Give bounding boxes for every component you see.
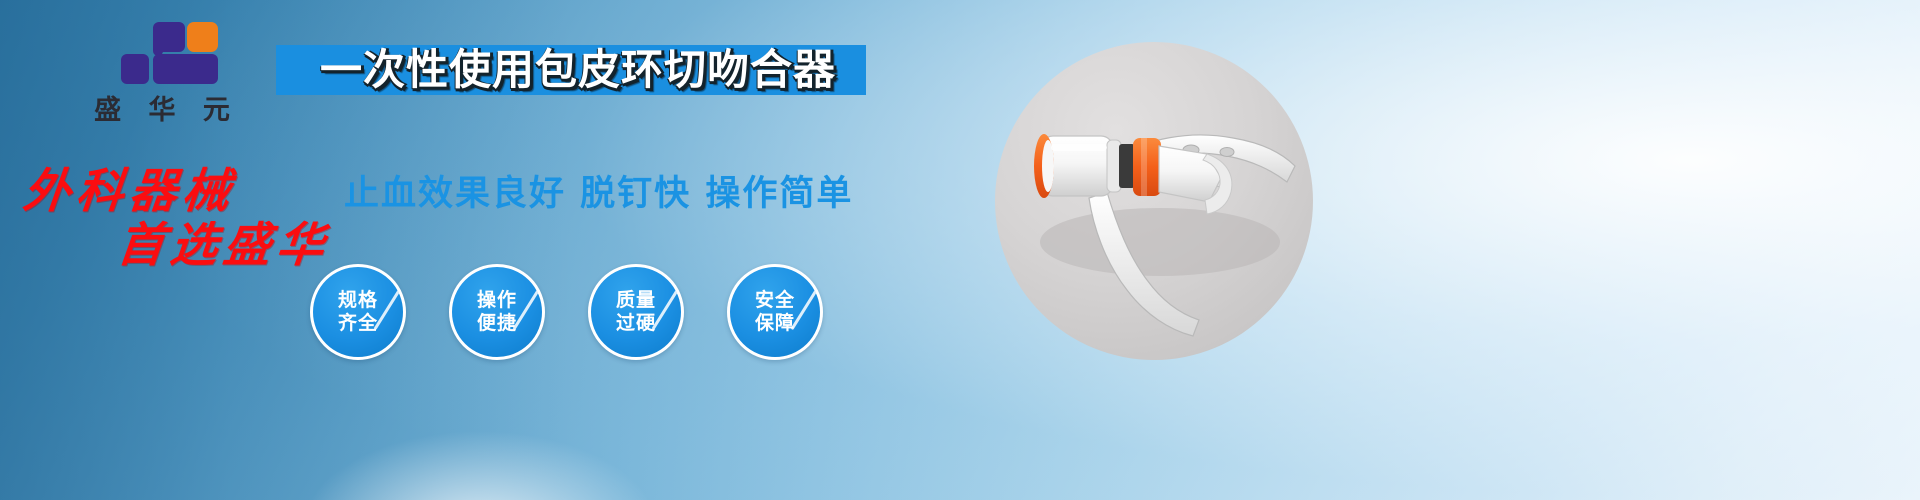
page-title: 一次性使用包皮环切吻合器	[288, 42, 868, 98]
feature-circle-label: 操作 便捷	[477, 289, 517, 335]
slogan-line-2: 首选盛华	[114, 206, 333, 275]
feature-circle-label: 质量 过硬	[616, 289, 656, 335]
bottom-glow	[300, 430, 660, 500]
product-banner: 盛 华 元 一次性使用包皮环切吻合器 外科器械 首选盛华 止血效果良好 脱钉快 …	[0, 0, 1920, 500]
subtitle: 止血效果良好 脱钉快 操作简单	[344, 165, 853, 216]
shenghuayuan-block-logo-icon	[123, 22, 201, 92]
feature-circle-label: 安全 保障	[755, 289, 795, 335]
feature-circle-list: 规格 齐全 操作 便捷 质量 过硬 安全 保障	[310, 264, 823, 360]
feature-circle-label: 规格 齐全	[338, 289, 378, 335]
product-illustration-icon	[995, 42, 1313, 360]
feature-circle-3[interactable]: 质量 过硬	[588, 264, 684, 360]
feature-circle-4[interactable]: 安全 保障	[727, 264, 823, 360]
brand-name: 盛 华 元	[62, 96, 262, 126]
product-image	[995, 42, 1313, 360]
feature-circle-2[interactable]: 操作 便捷	[449, 264, 545, 360]
feature-circle-1[interactable]: 规格 齐全	[310, 264, 406, 360]
brand-logo[interactable]: 盛 华 元	[62, 22, 262, 132]
